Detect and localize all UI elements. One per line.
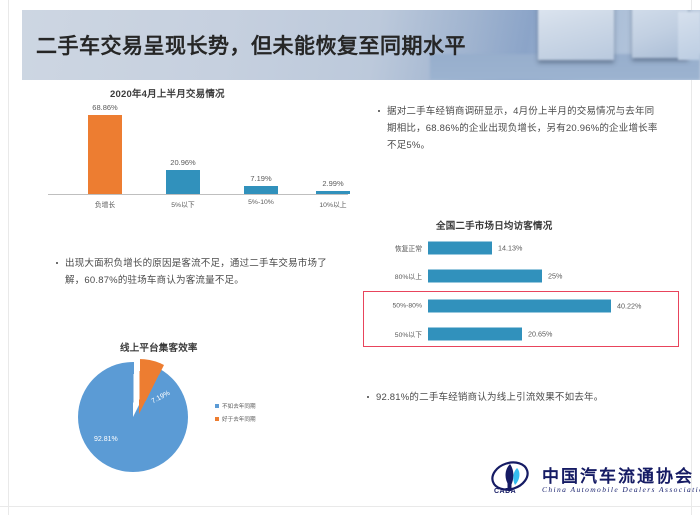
bullet-text-traffic-cause: 出现大面积负增长的原因是客流不足，通过二手车交易市场了解，60.87%的驻场车商… [65, 256, 346, 290]
cada-name-cn: 中国汽车流通协会 [542, 462, 694, 487]
pie-legend-swatch [215, 417, 219, 421]
bullet-block-online-traffic: 92.81%的二手车经销商认为线上引流效果不如去年。 [367, 390, 657, 407]
slide-title: 二手车交易呈现长势，但未能恢复至同期水平 [36, 30, 466, 60]
pie-chart-legend: 不如去年同期好于去年同期 [215, 402, 256, 428]
slide-bottom-border [0, 506, 700, 507]
cada-abbr: CADA [494, 488, 516, 495]
horizontal-bar-row: 恢复正常14.13% [370, 240, 690, 256]
pie-chart-plot: 92.81% 7.19% [78, 362, 198, 474]
horizontal-bar-fill [428, 242, 492, 255]
pie-chart: 线上平台集客效率 92.81% 7.19% 不如去年同期好于去年同期 [60, 340, 360, 475]
horizontal-bar-fill [428, 270, 542, 283]
column-category-label: 5%以下 [153, 199, 213, 209]
pie-legend-label: 好于去年同期 [222, 415, 256, 423]
column-bar-value-label: 20.96% [170, 158, 195, 167]
horizontal-bar-category-label: 恢复正常 [370, 243, 422, 253]
pie-legend-swatch [215, 404, 219, 408]
column-bar-value-label: 68.86% [92, 103, 117, 112]
cada-logo: CADA 中国汽车流通协会 China Automobile Dealers A… [490, 458, 690, 504]
column-chart: 2020年4月上半月交易情况 68.86%20.96%7.19%2.99% 负增… [30, 86, 360, 216]
slide-left-border [8, 0, 9, 515]
column-bar-fill [166, 170, 200, 194]
bullet-dot-icon [56, 262, 58, 264]
bullet-dot-icon [367, 396, 369, 398]
bullet-text-growth-survey: 据对二手车经销商调研显示，4月份上半月的交易情况与去年同期相比，68.86%的企… [387, 104, 658, 155]
horizontal-bar-value-label: 25% [548, 272, 562, 281]
bullet-text-online-traffic: 92.81%的二手车经销商认为线上引流效果不如去年。 [376, 390, 603, 407]
pie-legend-item: 不如去年同期 [215, 402, 256, 410]
column-bar: 68.86% [88, 108, 122, 194]
cada-name-en: China Automobile Dealers Association [542, 485, 700, 494]
pie-legend-label: 不如去年同期 [222, 402, 256, 410]
column-chart-plot: 68.86%20.96%7.19%2.99% [48, 108, 348, 194]
bullet-dot-icon [378, 110, 380, 112]
horizontal-bar-chart-title: 全国二手市场日均访客情况 [436, 218, 552, 232]
column-category-label: 10%以上 [303, 199, 363, 209]
pie-label-major: 92.81% [94, 436, 118, 443]
column-chart-axis [48, 194, 348, 195]
column-bar-value-label: 2.99% [322, 179, 343, 188]
highlight-red-rectangle [363, 291, 679, 347]
pie-chart-title: 线上平台集客效率 [120, 340, 198, 354]
horizontal-bar-row: 80%以上25% [370, 268, 690, 284]
column-category-label: 5%-10% [231, 199, 291, 206]
slide-canvas: 二手车交易呈现长势，但未能恢复至同期水平 2020年4月上半月交易情况 68.8… [0, 0, 700, 515]
bullet-block-traffic-cause: 出现大面积负增长的原因是客流不足，通过二手车交易市场了解，60.87%的驻场车商… [56, 256, 346, 290]
column-chart-title: 2020年4月上半月交易情况 [110, 86, 225, 100]
header-cube-shape-3 [678, 12, 700, 60]
column-category-label: 负增长 [75, 199, 135, 209]
slide-header-banner: 二手车交易呈现长势，但未能恢复至同期水平 [22, 10, 700, 80]
column-bar-value-label: 7.19% [250, 174, 271, 183]
pie-slice-exploded [84, 359, 194, 469]
bullet-block-growth-survey: 据对二手车经销商调研显示，4月份上半月的交易情况与去年同期相比，68.86%的企… [378, 104, 658, 155]
horizontal-bar-value-label: 14.13% [498, 244, 522, 253]
column-bar: 20.96% [166, 108, 200, 194]
column-bar: 2.99% [316, 108, 350, 194]
column-bar-fill [88, 115, 122, 194]
column-bar-fill [244, 186, 278, 194]
column-bar: 7.19% [244, 108, 278, 194]
horizontal-bar-category-label: 80%以上 [370, 271, 422, 281]
pie-legend-item: 好于去年同期 [215, 415, 256, 423]
header-cube-shape-1 [538, 10, 614, 60]
